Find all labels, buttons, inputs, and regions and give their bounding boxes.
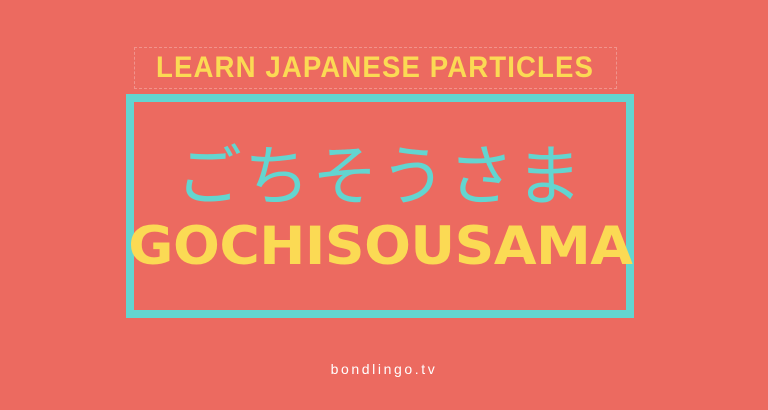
romaji-word: GOCHISOUSAMA (128, 220, 632, 273)
featured-word-frame: ごちそうさま GOCHISOUSAMA (126, 94, 634, 318)
page-title: LEARN JAPANESE PARTICLES (156, 53, 594, 83)
site-footer-label: bondlingo.tv (0, 360, 768, 378)
banner-card: LEARN JAPANESE PARTICLES ごちそうさま GOCHISOU… (0, 0, 768, 410)
japanese-word: ごちそうさま (176, 144, 584, 210)
header-dashed-box: LEARN JAPANESE PARTICLES (134, 47, 617, 89)
